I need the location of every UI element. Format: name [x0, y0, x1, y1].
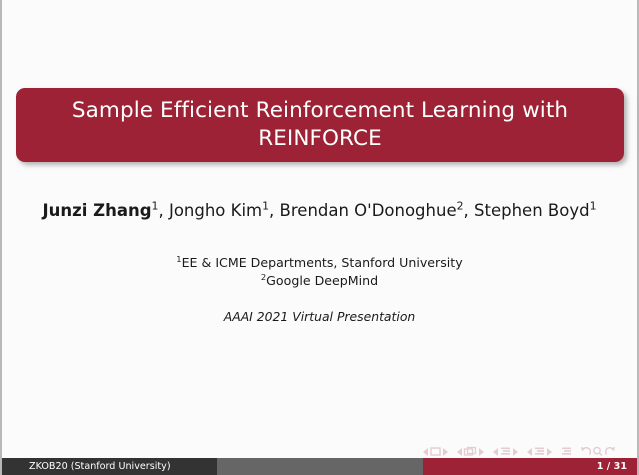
presentation-slide: Sample Efficient Reinforcement Learning …: [0, 0, 639, 475]
previous-slide-arrow-icon[interactable]: [422, 447, 429, 457]
forward-icon[interactable]: [604, 446, 616, 457]
author-affil-marker-2: 1: [262, 200, 269, 213]
section-icon[interactable]: [533, 446, 546, 457]
nav-group-history[interactable]: [580, 446, 616, 457]
affiliation-text-1: EE & ICME Departments, Stanford Universi…: [182, 255, 463, 270]
author-affil-marker-3: 2: [457, 200, 464, 213]
author-name-3: Brendan O'Donoghue: [280, 201, 457, 220]
author-name-4: Stephen Boyd: [474, 201, 590, 220]
frame-icon[interactable]: [463, 446, 478, 457]
nav-group-subsection[interactable]: [492, 446, 519, 457]
next-frame-arrow-icon[interactable]: [478, 447, 485, 457]
previous-section-arrow-icon[interactable]: [526, 447, 533, 457]
affiliation-line-2: 2Google DeepMind: [2, 272, 637, 290]
affiliation-line-1: 1EE & ICME Departments, Stanford Univers…: [2, 254, 637, 272]
title-block: Sample Efficient Reinforcement Learning …: [16, 88, 624, 162]
event-line: AAAI 2021 Virtual Presentation: [2, 309, 637, 324]
slide-icon[interactable]: [429, 446, 442, 457]
author-separator-1: ,: [158, 201, 169, 220]
search-icon[interactable]: [592, 446, 604, 457]
nav-group-section[interactable]: [526, 446, 553, 457]
footer-title-section: [217, 458, 423, 475]
next-section-arrow-icon[interactable]: [546, 447, 553, 457]
subsection-icon[interactable]: [499, 446, 512, 457]
next-subsection-arrow-icon[interactable]: [512, 447, 519, 457]
author-affil-marker-4: 1: [590, 200, 597, 213]
author-line: Junzi Zhang1, Jongho Kim1, Brendan O'Don…: [2, 200, 637, 221]
slide-title: Sample Efficient Reinforcement Learning …: [54, 88, 586, 162]
author-name-1: Junzi Zhang: [42, 201, 151, 220]
author-separator-3: ,: [464, 201, 475, 220]
next-slide-arrow-icon[interactable]: [442, 447, 449, 457]
affiliation-text-2: Google DeepMind: [266, 273, 378, 288]
previous-subsection-arrow-icon[interactable]: [492, 447, 499, 457]
nav-group-frame[interactable]: [456, 446, 485, 457]
beamer-navigation-symbols[interactable]: [422, 446, 623, 457]
footer-institute: ZKOB20 (Stanford University): [2, 458, 217, 475]
footer-page-number: 1 / 31: [423, 458, 637, 475]
nav-group-appendix[interactable]: [560, 446, 573, 457]
author-name-2: Jongho Kim: [169, 201, 262, 220]
affiliation-block: 1EE & ICME Departments, Stanford Univers…: [2, 254, 637, 291]
appendix-icon[interactable]: [560, 446, 573, 457]
footer-bar: ZKOB20 (Stanford University) 1 / 31: [2, 458, 637, 475]
previous-frame-arrow-icon[interactable]: [456, 447, 463, 457]
author-separator-2: ,: [269, 201, 280, 220]
nav-group-slide[interactable]: [422, 446, 449, 457]
back-icon[interactable]: [580, 446, 592, 457]
